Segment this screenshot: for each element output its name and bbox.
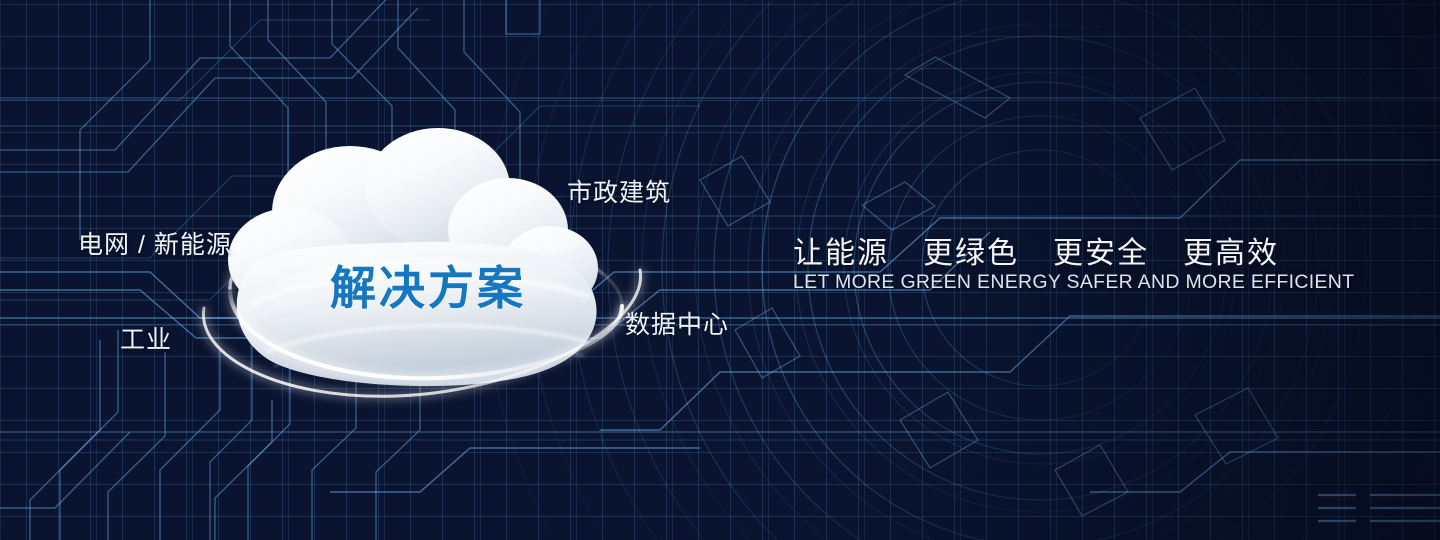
label-industry[interactable]: 工业 — [120, 320, 172, 356]
slogan-part-3: 更安全 — [1053, 237, 1149, 270]
label-data-center[interactable]: 数据中心 — [625, 305, 729, 341]
slogan-chinese: 让能源更绿色更安全更高效 — [793, 228, 1279, 272]
solution-banner: 解决方案 电网 / 新能源 工业 市政建筑 数据中心 让能源更绿色更安全更高效 … — [0, 0, 1440, 540]
slogan-english: LET MORE GREEN ENERGY SAFER AND MORE EFF… — [793, 271, 1354, 294]
slogan-part-4: 更高效 — [1183, 237, 1279, 270]
label-grid-new-energy[interactable]: 电网 / 新能源 — [78, 225, 232, 261]
label-municipal-building[interactable]: 市政建筑 — [567, 173, 671, 209]
solution-title: 解决方案 — [330, 252, 526, 318]
slogan-part-2: 更绿色 — [923, 237, 1019, 270]
slogan-part-1: 让能源 — [793, 237, 889, 270]
